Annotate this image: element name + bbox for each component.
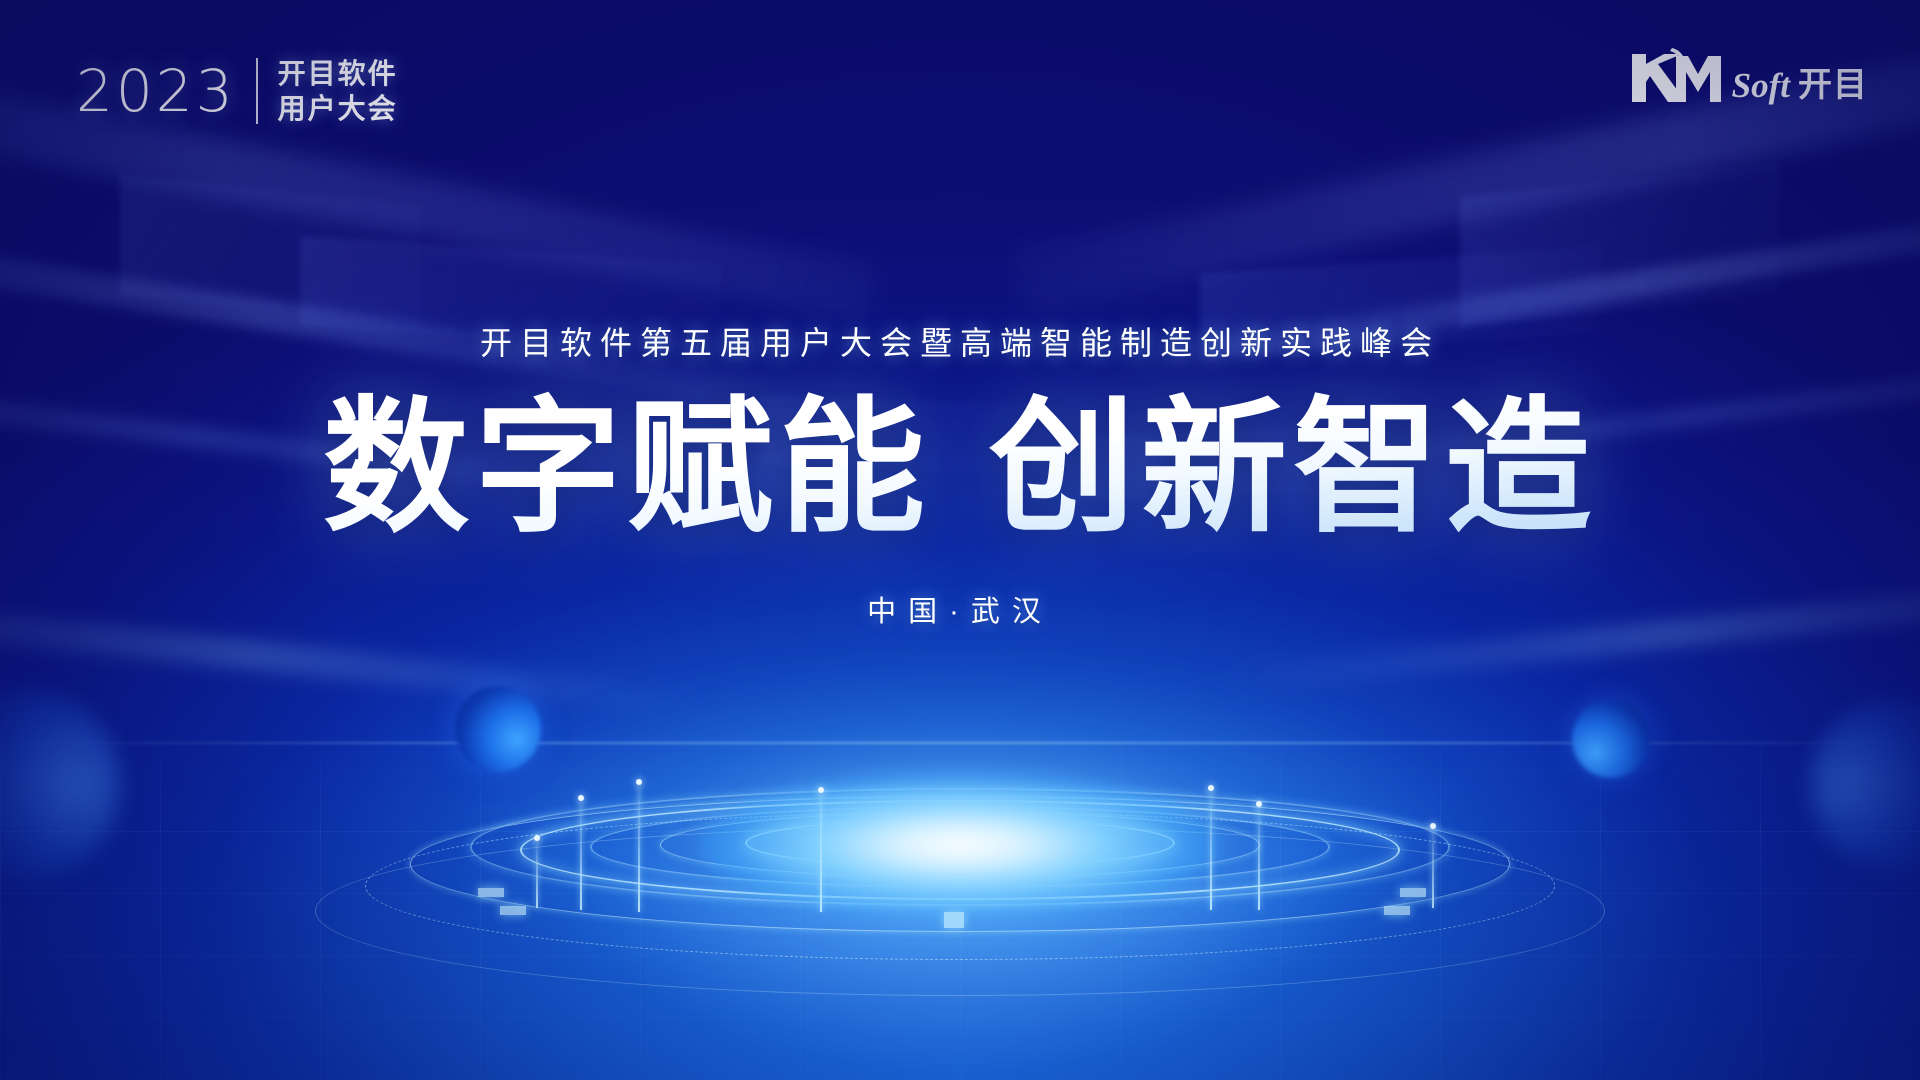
main-title: 数字赋能创新智造 [0,386,1920,550]
platform-ring-inner [745,818,1175,868]
event-logo-year: 2023 [76,62,236,120]
headline-block: 开目软件第五届用户大会暨高端智能制造创新实践峰会 数字赋能创新智造 中国·武汉 [0,318,1920,630]
brand-logo: Soft 开目 [1628,46,1868,106]
background-panel [120,174,420,326]
main-title-part1: 数字赋能 [323,386,931,549]
platform-core-glow [700,770,1220,920]
event-logo-line1: 开目软件 [278,59,398,88]
floating-sphere-left [455,686,541,772]
location-separator: · [949,596,971,628]
light-pillar [1210,788,1212,910]
conference-subtitle: 开目软件第五届用户大会暨高端智能制造创新实践峰会 [0,318,1920,364]
location-line: 中国·武汉 [0,588,1920,630]
grid-floor [0,720,1920,1080]
platform-ring [590,806,1330,888]
light-pillar [638,782,640,912]
brand-soft-text: Soft [1732,68,1790,103]
event-logo: 2023 开目软件 用户大会 [76,58,398,124]
event-logo-line2: 用户大会 [278,94,398,123]
event-logo-divider [256,58,258,124]
light-pillar [1432,826,1434,908]
location-city: 武汉 [971,596,1053,628]
floating-sphere-right [1572,700,1650,778]
main-title-part2: 创新智造 [989,386,1597,549]
ambient-orb [1810,700,1920,870]
platform-node [1384,906,1410,915]
light-pillar [820,790,822,912]
platform-ring [520,800,1400,900]
event-logo-text: 开目软件 用户大会 [278,59,398,123]
platform-node [500,906,526,915]
platform-ring-dashed [365,812,1555,960]
platform-node [478,888,504,897]
poster-canvas: 2023 开目软件 用户大会 Soft 开目 开目软件第五届用户大会暨高端智能制… [0,0,1920,1080]
light-pillar [580,798,582,910]
brand-chinese-text: 开目 [1798,68,1868,102]
platform-node [944,912,964,928]
background-panel [1460,163,1780,327]
platform-ring-inner [820,826,1100,860]
location-country: 中国 [867,596,949,628]
platform-halo [460,675,1460,1005]
platform-node [1400,888,1426,897]
ambient-orb [0,690,120,880]
platform-ring [470,788,1450,906]
light-pillar [1258,804,1260,910]
platform-ring [660,812,1260,878]
platform-ring-outer [315,826,1605,996]
km-monogram-icon [1628,46,1724,106]
platform-ring [410,796,1510,932]
horizon-line [0,742,1920,744]
light-pillar [536,838,538,908]
